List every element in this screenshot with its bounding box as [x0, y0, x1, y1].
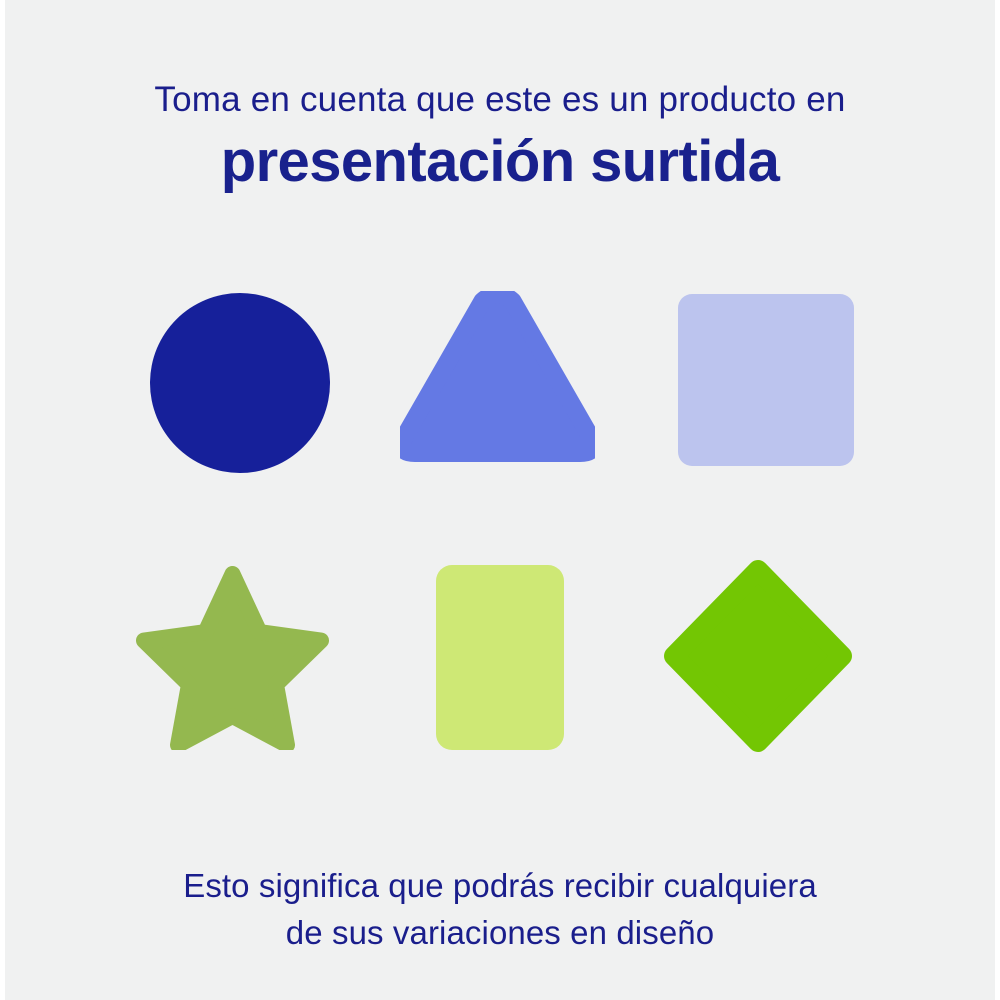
headline-line-1: Toma en cuenta que este es un producto e…: [0, 78, 1000, 122]
promo-graphic: Toma en cuenta que este es un producto e…: [0, 0, 1000, 1000]
footer-block: Esto significa que podrás recibir cualqu…: [0, 862, 1000, 956]
headline-line-2: presentación surtida: [0, 129, 1000, 195]
headline-block: Toma en cuenta que este es un producto e…: [0, 78, 1000, 195]
footer-line-1: Esto significa que podrás recibir cualqu…: [0, 862, 1000, 909]
footer-line-2: de sus variaciones en diseño: [0, 909, 1000, 956]
